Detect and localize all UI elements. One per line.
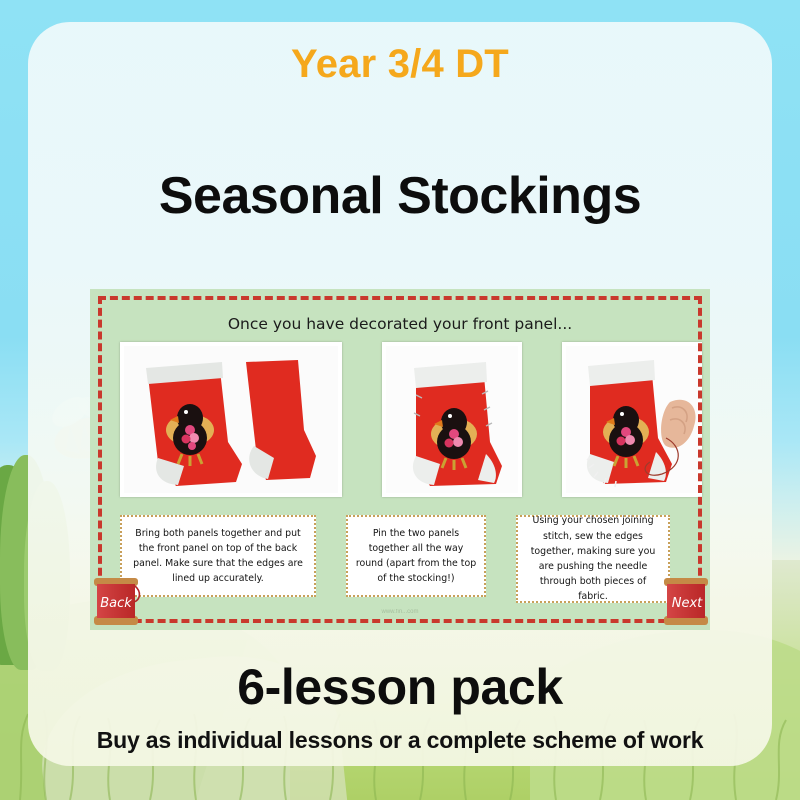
slide-watermark: www.fin...com: [90, 609, 710, 615]
next-button[interactable]: Next: [658, 568, 714, 634]
page-title: Seasonal Stockings: [0, 166, 800, 226]
photo-sewing-stocking: [562, 342, 702, 497]
photo-pinned-stocking: [382, 342, 522, 497]
slide-photo-row: [120, 342, 680, 497]
back-button-label: Back: [100, 596, 132, 611]
pack-title: 6-lesson pack: [0, 658, 800, 716]
year-subject-label: Year 3/4 DT: [0, 42, 800, 87]
back-button[interactable]: Back: [88, 568, 144, 634]
pack-subtitle: Buy as individual lessons or a complete …: [0, 727, 800, 754]
caption-step-2: Pin the two panels together all the way …: [346, 515, 486, 597]
lesson-slide-preview: Once you have decorated your front panel…: [90, 289, 710, 630]
slide-caption-row: Bring both panels together and put the f…: [120, 515, 680, 603]
next-button-label: Next: [672, 596, 703, 611]
photo-two-stocking-panels: [120, 342, 342, 497]
slide-heading: Once you have decorated your front panel…: [90, 315, 710, 333]
caption-step-3: Using your chosen joining stitch, sew th…: [516, 515, 670, 603]
caption-step-1: Bring both panels together and put the f…: [120, 515, 316, 597]
poster-canvas: Year 3/4 DT Seasonal Stockings Once you …: [0, 0, 800, 800]
